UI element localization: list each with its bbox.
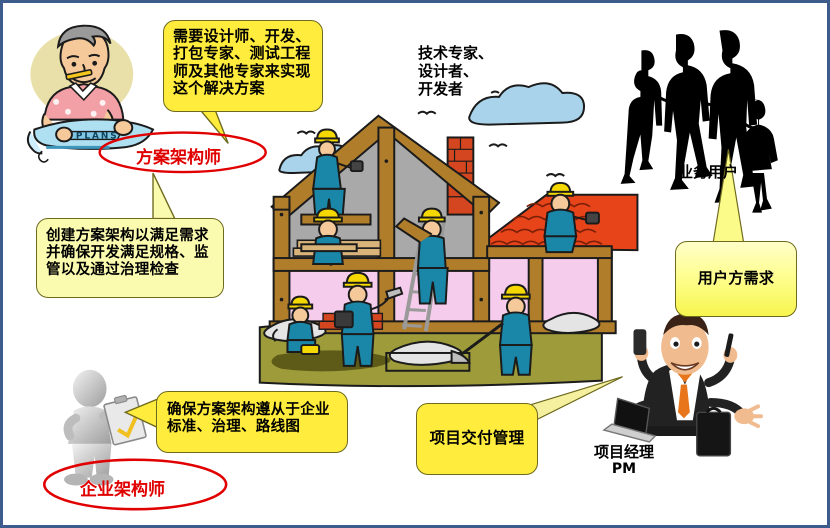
role-solution-architect: 方案架构师 [136,143,221,168]
callout-tail-delivery [532,377,623,422]
callout-project-delivery: 项目交付管理 [416,403,538,475]
callout-design-team: 需要设计师、开发、打包专家、测试工程师及其他专家来实现这个解决方案 [163,20,323,112]
label-project-manager-cn: 项目经理 [594,443,654,461]
label-project-manager-en: PM [581,461,667,478]
mannequin-clipboard-illustration [64,370,146,486]
callout-enterprise-governance: 确保方案架构遵从于企业标准、治理、路线图 [156,391,348,453]
callout-tail-governance [125,398,159,428]
ladder [402,221,444,332]
callout-tail-solution-architect [153,173,175,218]
architect-blueprint-illustration: PLANS [28,26,153,162]
multitasking-businessman-illustration [604,313,761,455]
label-tech-experts-line3: 开发者 [418,80,493,98]
label-tech-experts-line2: 设计者、 [418,62,493,80]
svg-text:PLANS: PLANS [76,131,119,141]
label-business-user: 业务用户 [678,163,738,181]
callout-tail-design [198,108,228,144]
label-tech-experts: 技术专家、 设计者、 开发者 [418,44,493,98]
callout-user-requirements: 用户方需求 [675,241,797,317]
diagram-canvas: PLANS [0,0,830,528]
label-tech-experts-line1: 技术专家、 [418,44,493,62]
house-under-construction-illustration [264,116,637,371]
callout-solution-architect-duty: 创建方案架构以满足需求并确保开发满足规格、监管以及通过治理检查 [36,218,224,298]
role-enterprise-architect: 企业架构师 [80,475,165,500]
family-silhouette-illustration [621,30,778,212]
label-project-manager: 项目经理 PM [581,443,667,478]
birds [297,91,564,176]
construction-workers [273,130,599,375]
construction-ground [260,318,602,386]
